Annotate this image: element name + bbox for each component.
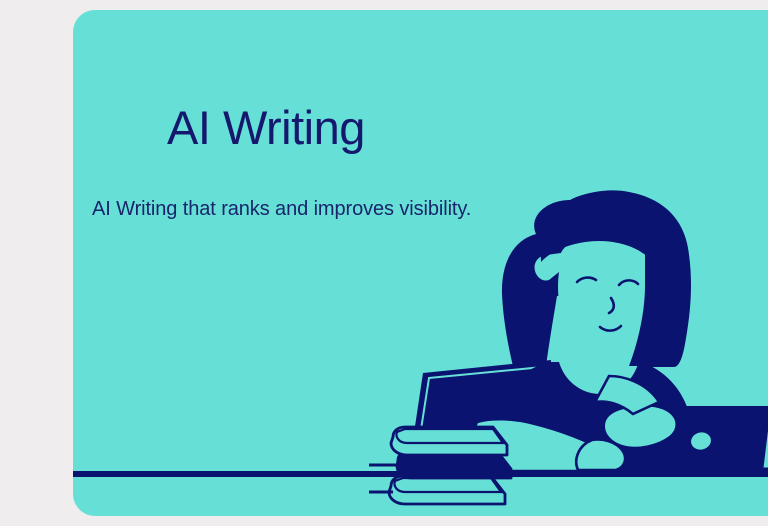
woman-writing-at-laptop-illustration	[73, 10, 768, 516]
book-stack-icon	[369, 427, 511, 504]
hero-card: AI Writing AI Writing that ranks and imp…	[73, 10, 768, 516]
